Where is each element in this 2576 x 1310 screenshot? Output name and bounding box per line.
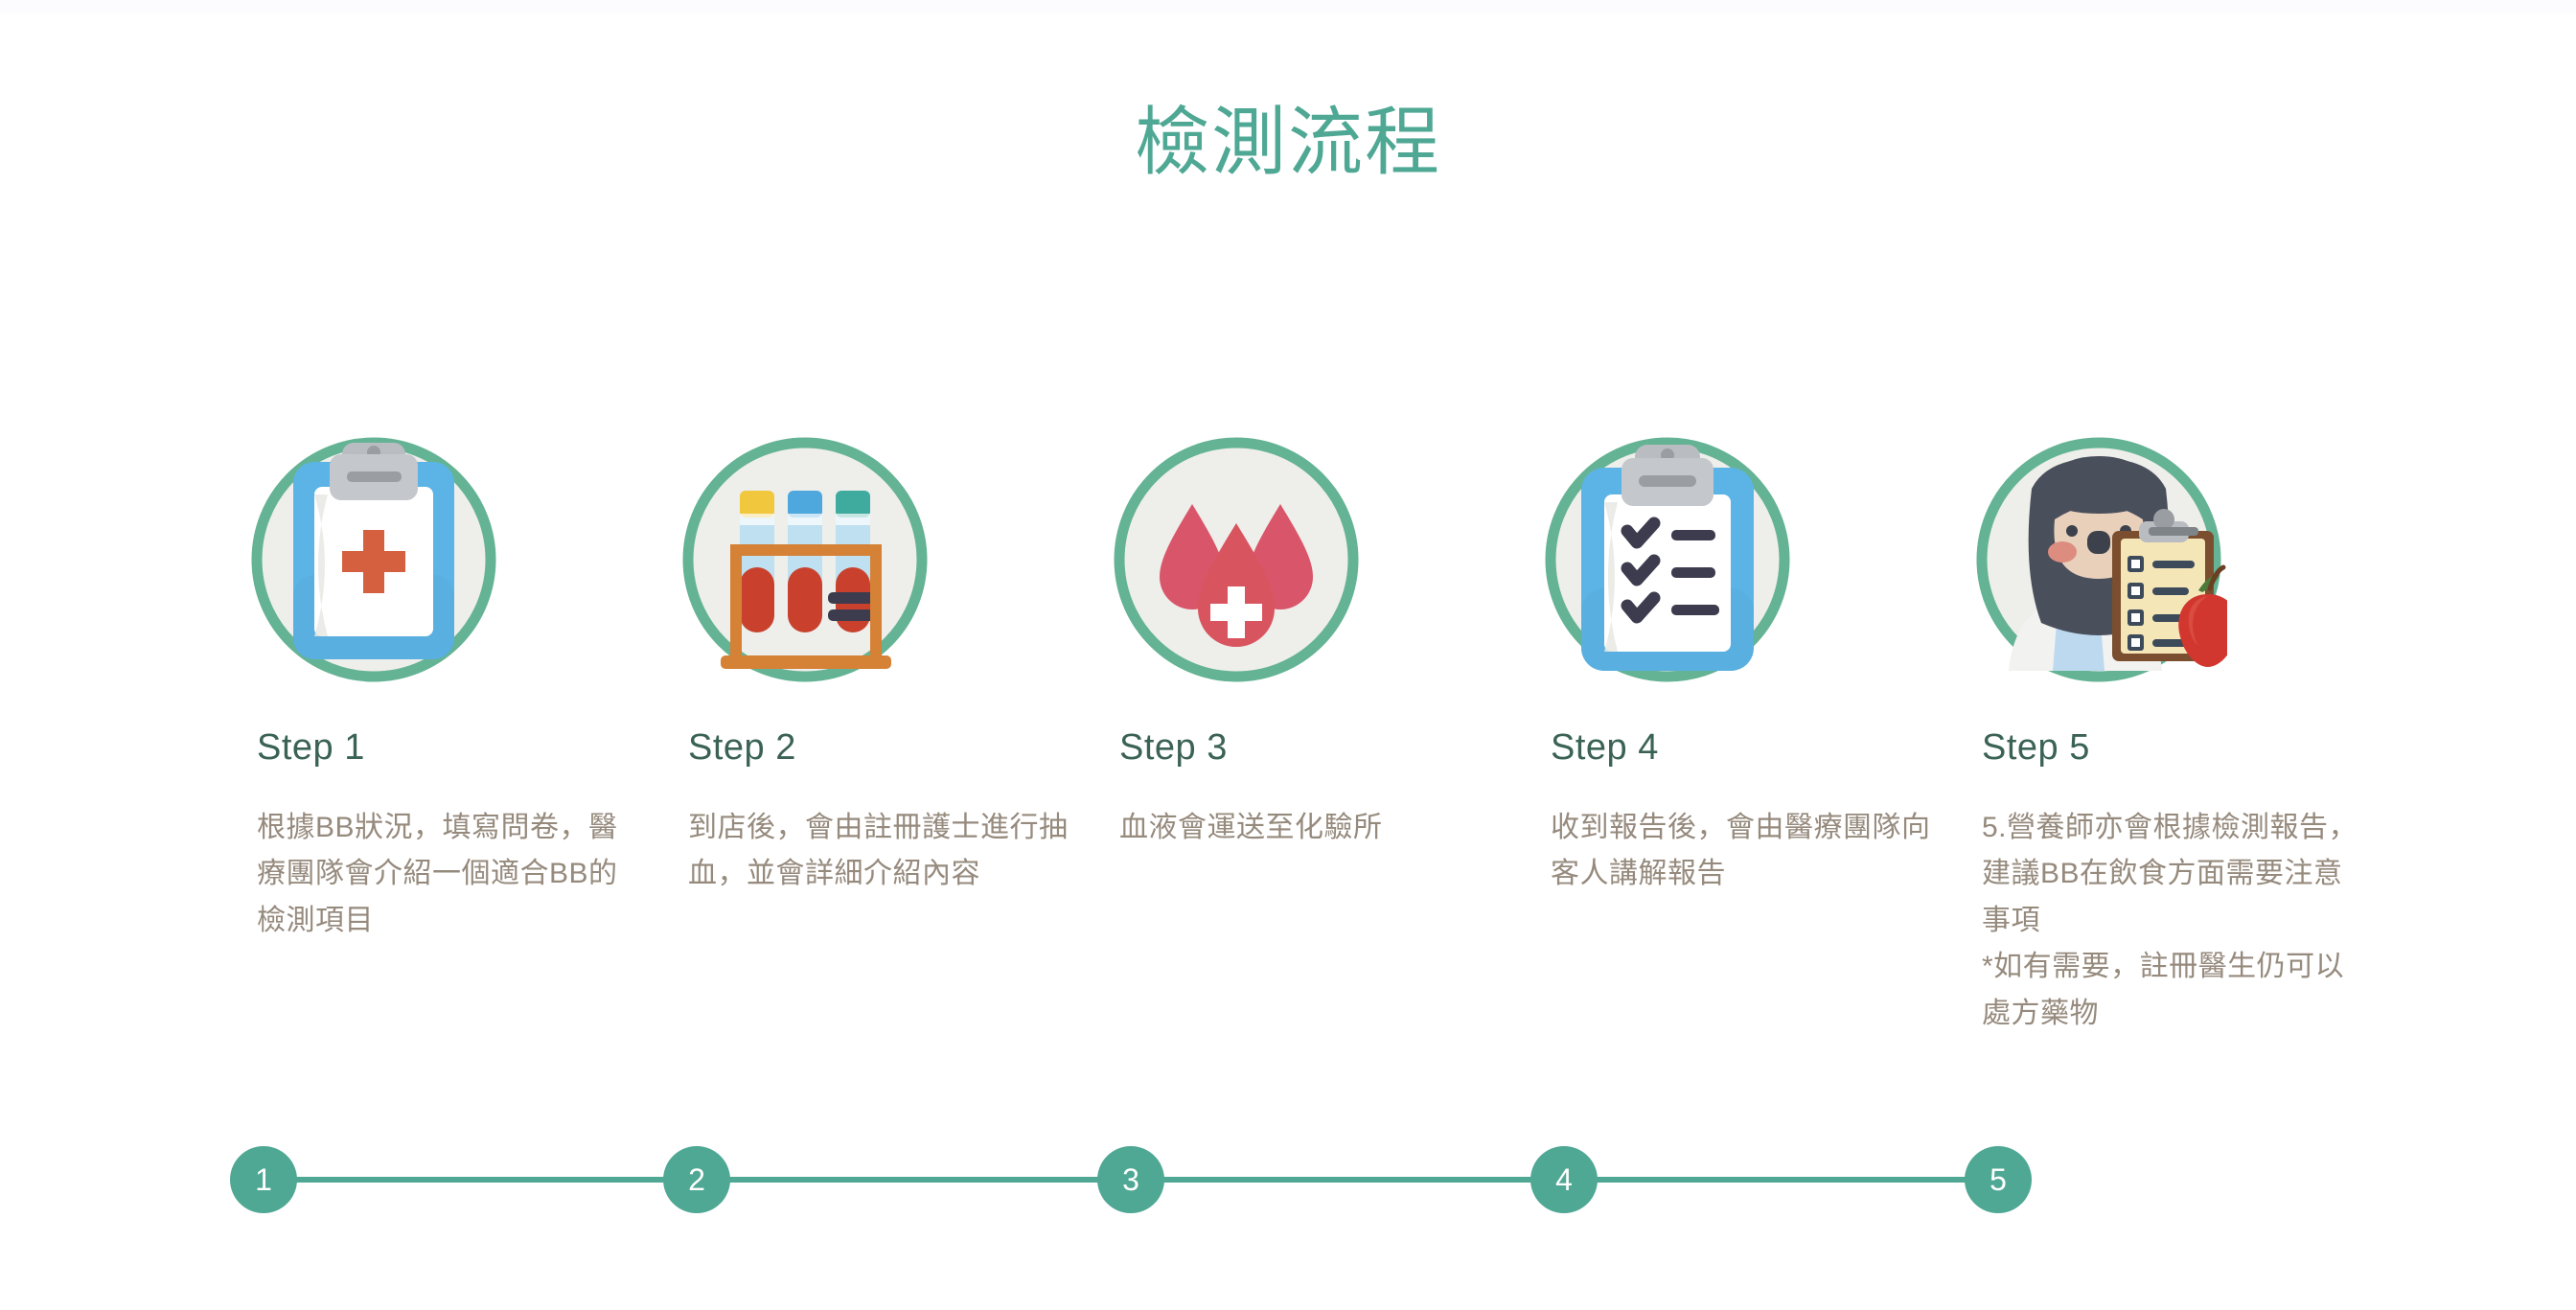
step-card-1: Step 1 根據BB狀況，填寫問卷，醫療團隊會介紹一個適合BB的檢測項目 bbox=[257, 431, 688, 944]
step-heading: Step 2 bbox=[688, 726, 1073, 770]
progress-node-list: 1 2 3 4 5 bbox=[230, 1146, 2032, 1213]
blood-test-tubes-rack-icon bbox=[677, 431, 933, 688]
steps-row: Step 1 根據BB狀況，填寫問卷，醫療團隊會介紹一個適合BB的檢測項目 bbox=[257, 431, 2423, 1038]
blood-drops-cross-icon bbox=[1108, 431, 1365, 688]
page-title: 檢測流程 bbox=[0, 96, 2576, 190]
step-card-5: Step 5 5.營養師亦會根據檢測報告，建議BB在飲食方面需要注意事項 *如有… bbox=[1982, 431, 2413, 1038]
nutritionist-clipboard-apple-icon bbox=[1970, 431, 2227, 688]
step-body: 5.營養師亦會根據檢測報告，建議BB在飲食方面需要注意事項 *如有需要，註冊醫生… bbox=[1982, 805, 2367, 1038]
step-body: 收到報告後，會由醫療團隊向客人講解報告 bbox=[1551, 805, 1936, 898]
step-heading: Step 4 bbox=[1551, 726, 1936, 770]
step-body: 根據BB狀況，填寫問卷，醫療團隊會介紹一個適合BB的檢測項目 bbox=[257, 805, 642, 945]
step-card-2: Step 2 到店後，會由註冊護士進行抽血，並會詳細介紹內容 bbox=[688, 431, 1119, 898]
top-edge-band bbox=[0, 0, 2576, 13]
progress-node-2[interactable]: 2 bbox=[663, 1146, 730, 1213]
step-heading: Step 5 bbox=[1982, 726, 2367, 770]
step-card-4: Step 4 收到報告後，會由醫療團隊向客人講解報告 bbox=[1551, 431, 1982, 898]
step-body: 血液會運送至化驗所 bbox=[1119, 805, 1505, 852]
step-body: 到店後，會由註冊護士進行抽血，並會詳細介紹內容 bbox=[688, 805, 1073, 898]
progress-node-4[interactable]: 4 bbox=[1530, 1146, 1598, 1213]
progress-node-5[interactable]: 5 bbox=[1965, 1146, 2032, 1213]
progress-stepper: 1 2 3 4 5 bbox=[230, 1146, 2032, 1213]
clipboard-checklist-icon bbox=[1539, 431, 1796, 688]
step-heading: Step 1 bbox=[257, 726, 642, 770]
step-heading: Step 3 bbox=[1119, 726, 1505, 770]
progress-node-1[interactable]: 1 bbox=[230, 1146, 297, 1213]
step-card-3: Step 3 血液會運送至化驗所 bbox=[1119, 431, 1551, 851]
progress-node-3[interactable]: 3 bbox=[1097, 1146, 1164, 1213]
clipboard-medical-cross-icon bbox=[245, 431, 502, 688]
